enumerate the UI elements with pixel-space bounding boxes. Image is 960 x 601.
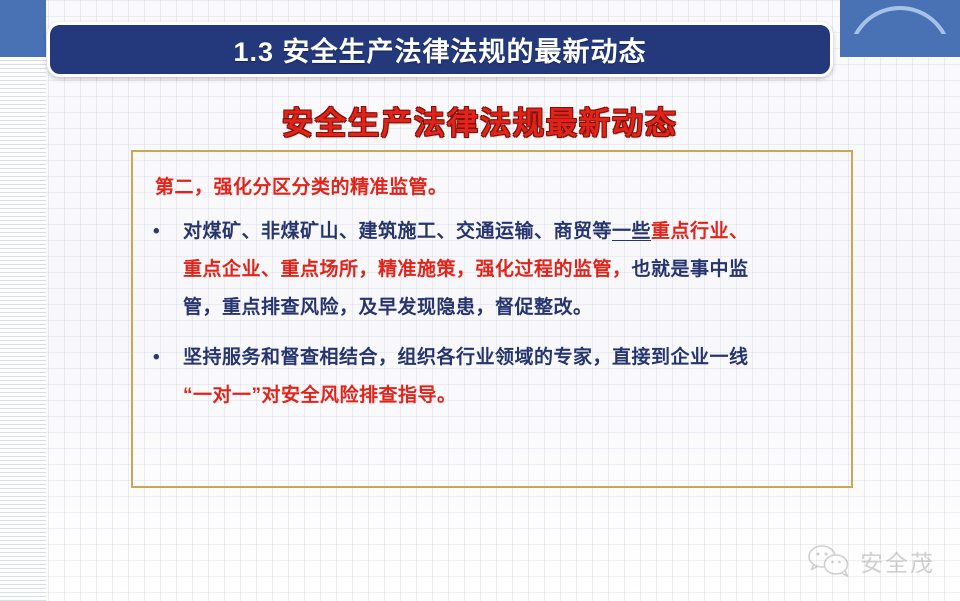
- watermark: 安全茂: [806, 533, 956, 589]
- list-item-body: 坚持服务和督查相结合，组织各行业领域的专家，直接到企业一线“一对一”对安全风险排…: [183, 339, 829, 415]
- text-segment: 管，重点排查风险，及早发现隐患，督促整改。: [183, 297, 593, 318]
- slide-subtitle: 安全生产法律法规最新动态: [0, 98, 960, 143]
- top-left-blue-block: [0, 0, 46, 57]
- wechat-icon: [806, 543, 852, 579]
- list-item-body: 对煤矿、非煤矿山、建筑施工、交通运输、商贸等一些重点行业、重点企业、重点场所，精…: [183, 213, 829, 327]
- bullet-list: •对煤矿、非煤矿山、建筑施工、交通运输、商贸等一些重点行业、重点企业、重点场所，…: [149, 213, 829, 415]
- text-segment: 重点行业、: [651, 221, 749, 242]
- lead-paragraph: 第二，强化分区分类的精准监管。: [155, 172, 829, 199]
- text-segment: 对煤矿、非煤矿山、建筑施工、交通运输、商贸等: [183, 221, 612, 242]
- text-segment: 也就是事中监: [632, 259, 749, 280]
- bullet-marker: •: [149, 213, 183, 251]
- text-segment: 坚持服务和督查相结合，组织各行业领域的专家，直接到企业一线: [183, 347, 749, 368]
- arc-mask: [840, 34, 960, 57]
- list-item-line: 坚持服务和督查相结合，组织各行业领域的专家，直接到企业一线: [183, 339, 829, 377]
- list-item-line: 对煤矿、非煤矿山、建筑施工、交通运输、商贸等一些重点行业、: [183, 213, 829, 251]
- slide-canvas: 1.3 安全生产法律法规的最新动态 安全生产法律法规最新动态 第二，强化分区分类…: [0, 0, 960, 601]
- content-box: 第二，强化分区分类的精准监管。 •对煤矿、非煤矿山、建筑施工、交通运输、商贸等一…: [131, 150, 853, 488]
- text-segment: 重点企业、重点场所，精准施策，强化过程的监管，: [183, 259, 632, 280]
- list-item-line: 管，重点排查风险，及早发现隐患，督促整改。: [183, 289, 829, 327]
- watermark-label: 安全茂: [860, 544, 935, 578]
- text-segment: “一对一”对安全风险排查指导。: [183, 385, 457, 406]
- list-item: •对煤矿、非煤矿山、建筑施工、交通运输、商贸等一些重点行业、重点企业、重点场所，…: [149, 213, 829, 327]
- text-segment: 一些: [612, 221, 651, 242]
- list-item-line: “一对一”对安全风险排查指导。: [183, 377, 829, 415]
- list-item-line: 重点企业、重点场所，精准施策，强化过程的监管，也就是事中监: [183, 251, 829, 289]
- slide-title-bar: 1.3 安全生产法律法规的最新动态: [47, 22, 833, 77]
- top-right-blue-block: [840, 0, 960, 57]
- bullet-marker: •: [149, 339, 183, 377]
- page-title: 1.3 安全生产法律法规的最新动态: [233, 30, 646, 69]
- list-item: •坚持服务和督查相结合，组织各行业领域的专家，直接到企业一线“一对一”对安全风险…: [149, 339, 829, 415]
